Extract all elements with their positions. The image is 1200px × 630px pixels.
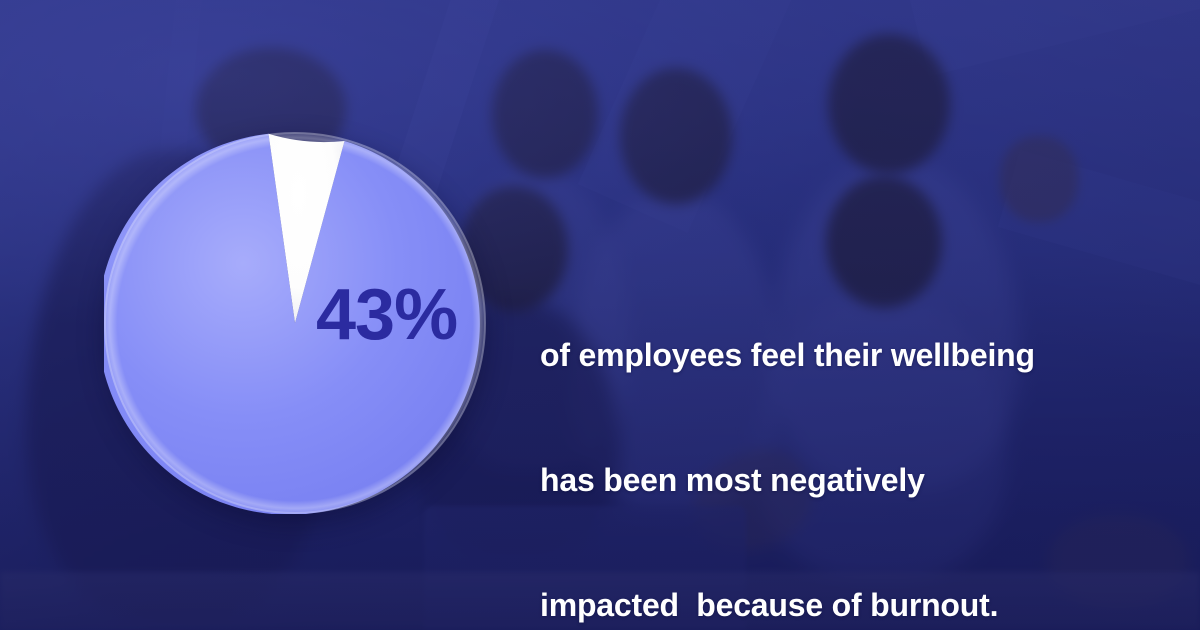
headline-line-1: of employees feel their wellbeing (540, 335, 1100, 377)
headline-copy: of employees feel their wellbeing has be… (540, 252, 1100, 630)
pie-value-label: 43% (316, 279, 486, 351)
headline-line-2: has been most negatively (540, 460, 1100, 502)
infographic-canvas: 43% of employees feel their wellbeing ha… (0, 0, 1200, 630)
pie-chart: 43% (104, 132, 486, 514)
headline-line-3: impacted because of burnout. (540, 585, 1100, 627)
